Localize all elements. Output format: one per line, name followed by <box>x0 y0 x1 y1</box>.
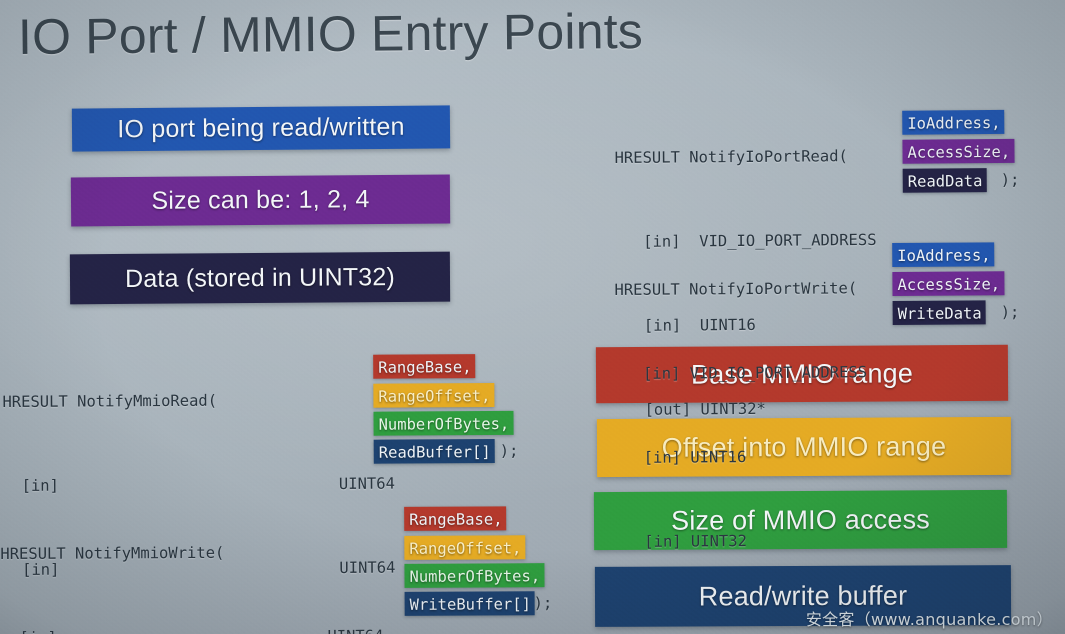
code-line: HRESULT NotifyIoPortWrite( <box>614 274 866 304</box>
param-chip-rangeoffset: RangeOffset, <box>404 535 525 560</box>
param-chip-readdata: ReadData <box>903 168 987 193</box>
code-terminator: ); <box>500 439 519 463</box>
code-line: HRESULT NotifyMmioRead( <box>2 386 394 416</box>
code-terminator: ); <box>1001 168 1020 192</box>
callout-label: Size can be: 1, 2, 4 <box>151 185 369 216</box>
param-chip-readbuffer: ReadBuffer[] <box>374 439 495 464</box>
code-block-notify-io-port-write: HRESULT NotifyIoPortWrite( [in] VID_IO_P… <box>614 218 870 634</box>
code-line: [in] VID_IO_PORT_ADDRESS <box>615 358 867 388</box>
callout-label: Data (stored in UINT32) <box>125 263 395 294</box>
param-chip-writebuffer: WriteBuffer[] <box>405 591 535 616</box>
param-chip-ioaddress: IoAddress, <box>892 242 994 267</box>
param-chip-rangeoffset: RangeOffset, <box>373 383 494 408</box>
callout-data-stored-in-uint32: Data (stored in UINT32) <box>70 252 450 305</box>
param-chip-accesssize: AccessSize, <box>892 271 1004 296</box>
code-line: HRESULT NotifyMmioWrite( <box>0 538 383 568</box>
param-chip-rangebase: RangeBase, <box>404 506 506 531</box>
code-terminator: ); <box>534 591 553 615</box>
code-line: [in] UINT32 <box>616 526 868 556</box>
callout-label: IO port being read/written <box>117 113 405 145</box>
watermark: 安全客（www.anquanke.com） <box>806 606 1053 630</box>
page-title: IO Port / MMIO Entry Points <box>18 2 644 66</box>
param-chip-ioaddress: IoAddress, <box>902 110 1005 135</box>
slide-canvas: IO Port / MMIO Entry Points IO port bein… <box>0 0 1065 634</box>
param-chip-writedata: WriteData <box>893 300 986 325</box>
code-line: [in] UINT64 <box>1 622 384 634</box>
param-chip-numberofbytes: NumberOfBytes, <box>404 563 544 588</box>
code-line: HRESULT NotifyIoPortRead( <box>614 142 876 172</box>
code-terminator: ); <box>1001 300 1020 324</box>
param-chip-rangebase: RangeBase, <box>373 354 475 379</box>
callout-io-port-being-read-written: IO port being read/written <box>72 105 450 151</box>
code-block-notify-mmio-write: HRESULT NotifyMmioWrite( [in] UINT64 [in… <box>0 482 386 634</box>
callout-size-can-be: Size can be: 1, 2, 4 <box>71 175 450 227</box>
code-line: [in] UINT16 <box>616 442 868 472</box>
param-chip-accesssize: AccessSize, <box>902 139 1014 164</box>
param-chip-numberofbytes: NumberOfBytes, <box>373 411 513 436</box>
